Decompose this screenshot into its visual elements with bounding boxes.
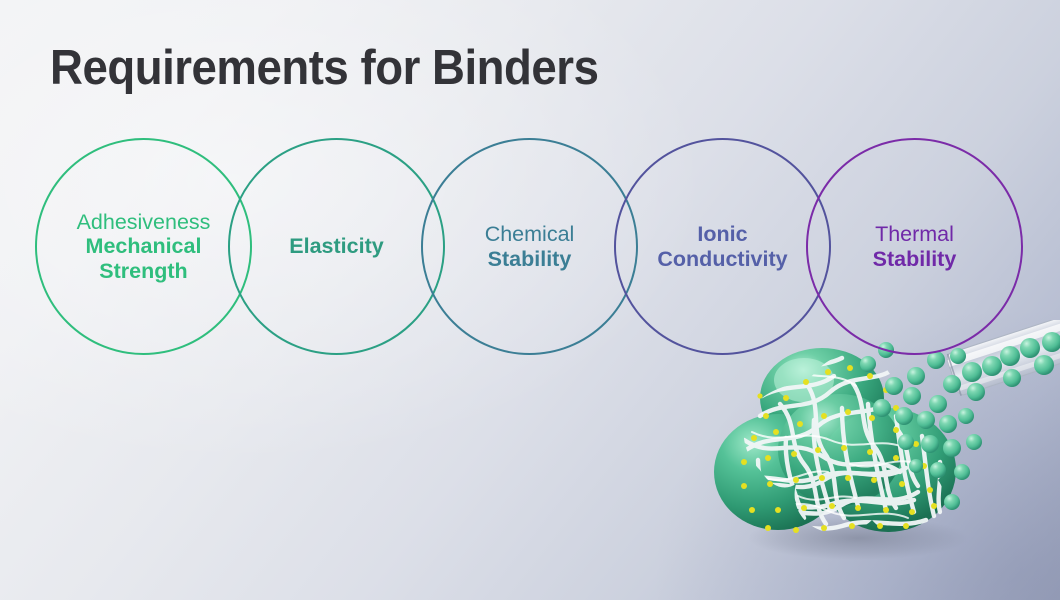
venn-circle-adhesiveness-mechanical-strength[interactable] <box>35 138 252 355</box>
venn-circle-ionic-conductivity[interactable] <box>614 138 831 355</box>
page-title: Requirements for Binders <box>50 44 598 93</box>
venn-circle-thermal-stability[interactable] <box>806 138 1023 355</box>
slide-canvas: Requirements for Binders <box>0 0 1060 600</box>
venn-circle-chemical-stability[interactable] <box>421 138 638 355</box>
venn-circle-elasticity[interactable] <box>228 138 445 355</box>
